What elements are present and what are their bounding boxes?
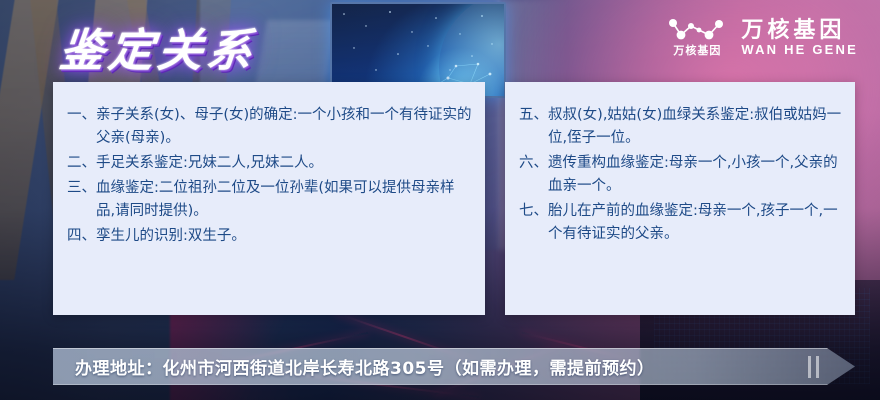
molecule-icon — [667, 17, 727, 43]
services-card-left: 一、 亲子关系(女)、母子(女)的确定:一个小孩和一个有待证实的父亲(母亲)。 … — [53, 82, 485, 315]
poster-root: 鉴定关系 万核基因 万核基因 WAN HE GENE — [0, 0, 880, 400]
brand-logo: 万核基因 万核基因 WAN HE GENE — [667, 17, 858, 57]
list-item-text: 胎儿在产前的血缘鉴定:母亲一个,孩子一个,一个有待证实的父亲。 — [548, 200, 843, 246]
list-item-text: 手足关系鉴定:兄妹二人,兄妹二人。 — [96, 152, 473, 175]
list-item: 五、 叔叔(女),姑姑(女)血绿关系鉴定:叔伯或姑妈一位,侄子一位。 — [519, 104, 843, 150]
list-item-number: 一、 — [67, 104, 96, 127]
address-bar-tick — [808, 356, 811, 378]
list-item-number: 三、 — [67, 177, 96, 200]
brand-name-en: WAN HE GENE — [741, 43, 858, 57]
list-item-number: 二、 — [67, 152, 96, 175]
brand-mark: 万核基因 — [667, 17, 727, 57]
list-item-number: 四、 — [67, 225, 96, 248]
list-item: 三、 血缘鉴定:二位祖孙二位及一位孙辈(如果可以提供母亲样品,请同时提供)。 — [67, 177, 473, 223]
list-item-text: 亲子关系(女)、母子(女)的确定:一个小孩和一个有待证实的父亲(母亲)。 — [96, 104, 473, 150]
list-item-number: 五、 — [519, 104, 548, 127]
brand-wordmark: 万核基因 WAN HE GENE — [741, 18, 858, 57]
list-item-text: 孪生儿的识别:双生子。 — [96, 225, 473, 248]
services-card-right: 五、 叔叔(女),姑姑(女)血绿关系鉴定:叔伯或姑妈一位,侄子一位。 六、 遗传… — [505, 82, 855, 315]
address-bar-text: 办理地址：化州市河西街道北岸长寿北路305号（如需办理，需提前预约） — [75, 354, 655, 379]
page-title: 鉴定关系 — [57, 14, 260, 79]
list-item: 二、 手足关系鉴定:兄妹二人,兄妹二人。 — [67, 152, 473, 175]
list-item: 六、 遗传重构血缘鉴定:母亲一个,小孩一个,父亲的血亲一个。 — [519, 152, 843, 198]
brand-name-cn: 万核基因 — [741, 18, 858, 41]
list-item: 七、 胎儿在产前的血缘鉴定:母亲一个,孩子一个,一个有待证实的父亲。 — [519, 200, 843, 246]
list-item: 一、 亲子关系(女)、母子(女)的确定:一个小孩和一个有待证实的父亲(母亲)。 — [67, 104, 473, 150]
address-bar-tick — [816, 356, 819, 378]
list-item-number: 七、 — [519, 200, 548, 223]
list-item: 四、 孪生儿的识别:双生子。 — [67, 225, 473, 248]
list-item-text: 血缘鉴定:二位祖孙二位及一位孙辈(如果可以提供母亲样品,请同时提供)。 — [96, 177, 473, 223]
list-item-number: 六、 — [519, 152, 548, 175]
list-item-text: 叔叔(女),姑姑(女)血绿关系鉴定:叔伯或姑妈一位,侄子一位。 — [548, 104, 843, 150]
address-bar: 办理地址：化州市河西街道北岸长寿北路305号（如需办理，需提前预约） — [53, 348, 855, 385]
brand-mark-label: 万核基因 — [673, 46, 721, 57]
list-item-text: 遗传重构血缘鉴定:母亲一个,小孩一个,父亲的血亲一个。 — [548, 152, 843, 198]
